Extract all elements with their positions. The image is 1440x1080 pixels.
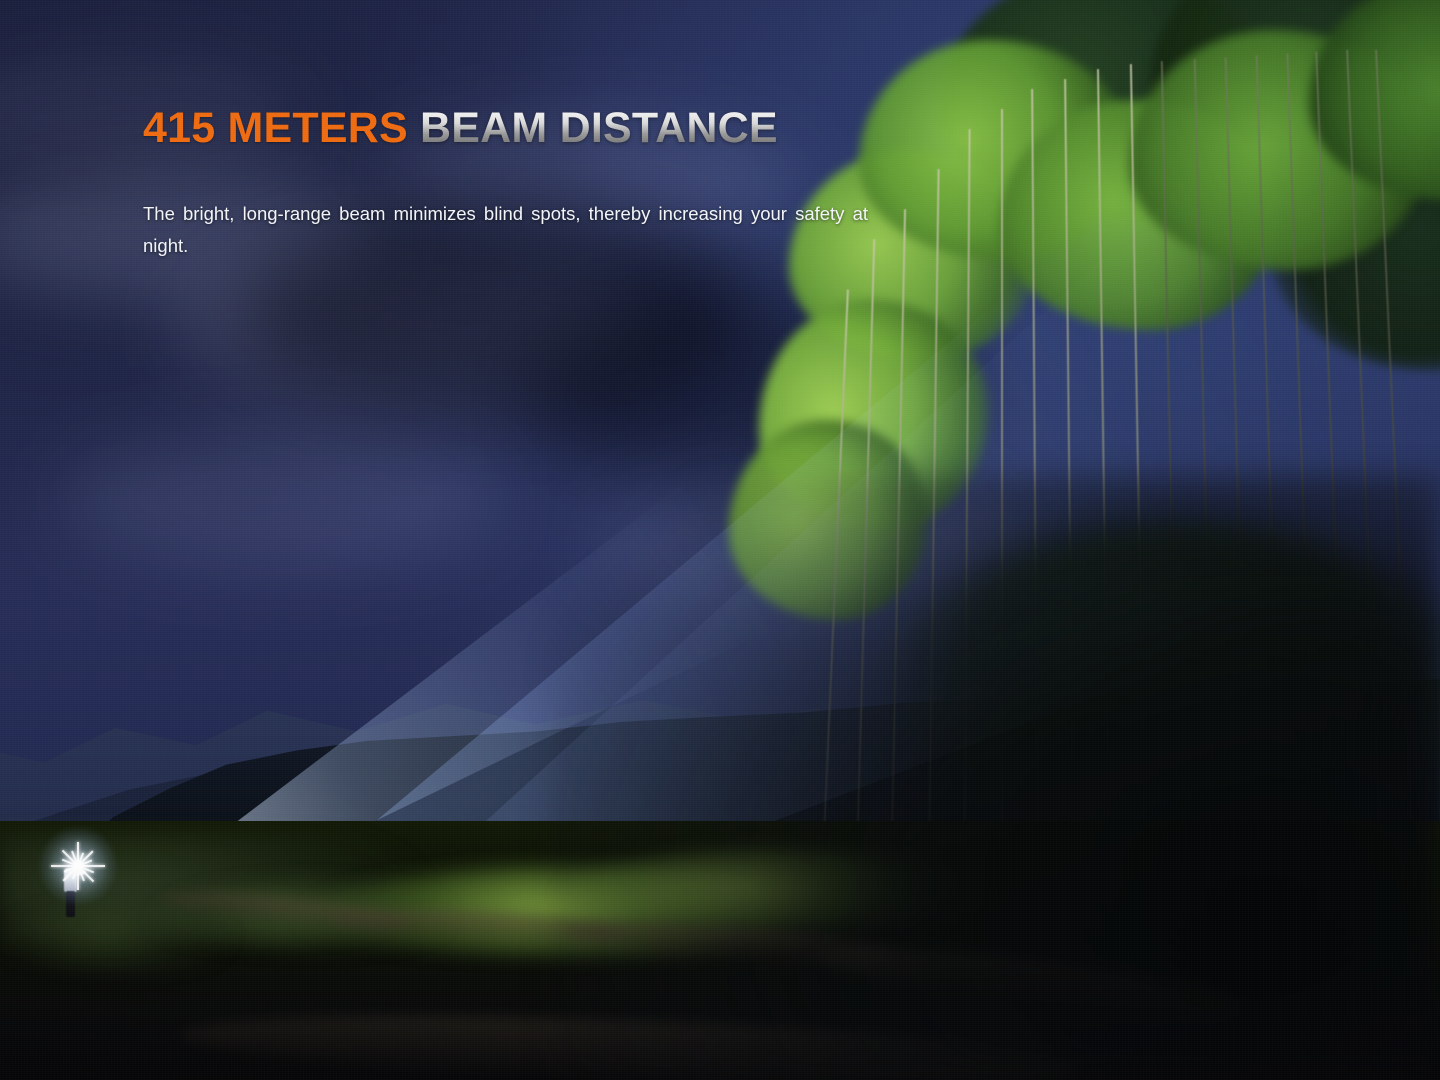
page-subtitle: The bright, long-range beam minimizes bl… bbox=[143, 152, 868, 293]
copy-block: 415 METERS BEAM DISTANCE The bright, lon… bbox=[143, 104, 873, 294]
headline-highlight: 415 METERS bbox=[143, 104, 408, 152]
promo-scene: 415 METERS BEAM DISTANCE The bright, lon… bbox=[0, 0, 1440, 1080]
flashlight-starburst bbox=[78, 866, 79, 867]
page-title: 415 METERS BEAM DISTANCE bbox=[143, 104, 873, 152]
headline-rest: BEAM DISTANCE bbox=[408, 104, 778, 152]
dark-foreground-mass bbox=[547, 475, 1440, 1080]
